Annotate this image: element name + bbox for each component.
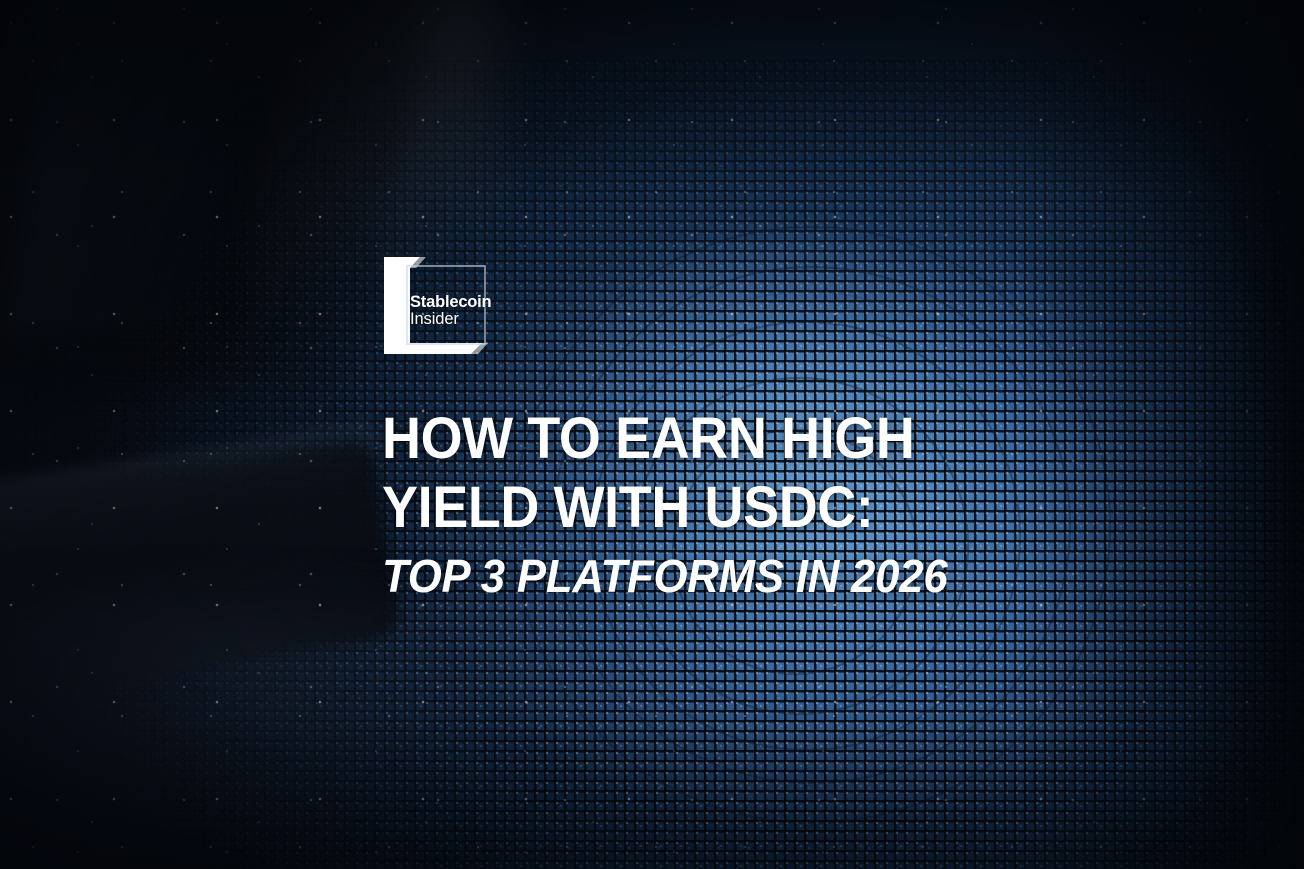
logo-name-line2: Insider: [410, 311, 496, 328]
hero-subheadline: TOP 3 PLATFORMS IN 2026: [382, 544, 1161, 608]
stablecoin-insider-logo[interactable]: Stablecoin Insider: [382, 255, 497, 358]
headline-line-2: YIELD WITH USDC:: [382, 473, 1145, 542]
logo-wordmark: Stablecoin Insider: [410, 294, 496, 329]
hero-content: Stablecoin Insider HOW TO EARN HIGH YIEL…: [382, 0, 1202, 869]
hero-banner: Stablecoin Insider HOW TO EARN HIGH YIEL…: [0, 0, 1304, 869]
headline-line-1: HOW TO EARN HIGH: [382, 404, 1145, 473]
logo-name-line1: Stablecoin: [410, 294, 496, 311]
hero-headline: HOW TO EARN HIGH YIELD WITH USDC: TOP 3 …: [382, 404, 1202, 608]
